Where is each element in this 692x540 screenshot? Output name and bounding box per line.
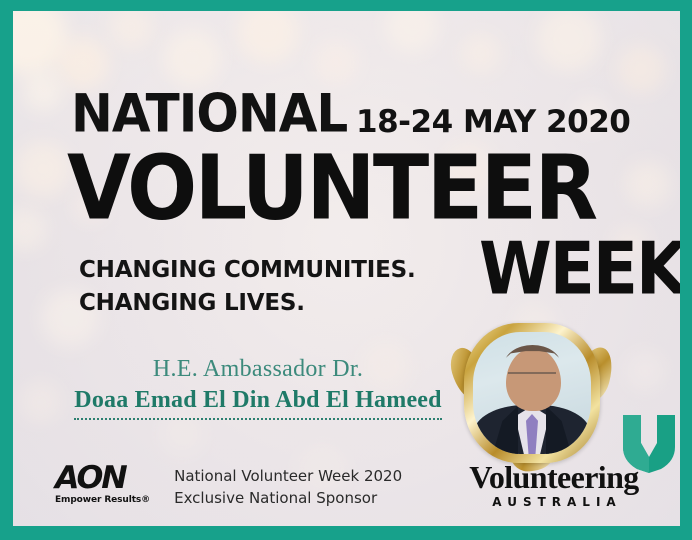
- sponsor-line-2: Exclusive National Sponsor: [174, 488, 402, 510]
- portrait-glasses-icon: [508, 372, 556, 387]
- aon-wordmark: AON: [55, 463, 152, 494]
- ambassador-block: H.E. Ambassador Dr. Doaa Emad El Din Abd…: [53, 356, 463, 420]
- ambassador-title: H.E. Ambassador Dr.: [53, 356, 463, 382]
- ambassador-name: Doaa Emad El Din Abd El Hameed: [74, 387, 441, 420]
- tagline-line-1: CHANGING COMMUNITIES.: [79, 254, 416, 287]
- aon-logo: AON Empower Results®: [55, 463, 150, 505]
- sponsor-text: National Volunteer Week 2020 Exclusive N…: [174, 463, 402, 510]
- volunteering-wordmark: Volunteering: [454, 461, 654, 493]
- sponsor-line-1: National Volunteer Week 2020: [174, 466, 402, 488]
- tagline: CHANGING COMMUNITIES. CHANGING LIVES.: [79, 254, 416, 319]
- ambassador-portrait: [464, 323, 600, 463]
- headline-volunteer: VOLUNTEER: [67, 145, 596, 234]
- aon-tagline: Empower Results®: [55, 496, 150, 505]
- poster-canvas: NATIONAL 18-24 MAY 2020 VOLUNTEER WEEK C…: [13, 11, 680, 526]
- poster: NATIONAL 18-24 MAY 2020 VOLUNTEER WEEK C…: [0, 0, 692, 540]
- headline-week: WEEK: [479, 233, 680, 306]
- headline-national: NATIONAL: [71, 87, 347, 140]
- headline-dateline: 18-24 MAY 2020: [356, 107, 630, 138]
- tagline-line-2: CHANGING LIVES.: [79, 287, 416, 320]
- australia-wordmark: AUSTRALIA: [454, 495, 654, 509]
- portrait-photo: [473, 332, 591, 454]
- sponsor-block: AON Empower Results® National Volunteer …: [55, 463, 402, 510]
